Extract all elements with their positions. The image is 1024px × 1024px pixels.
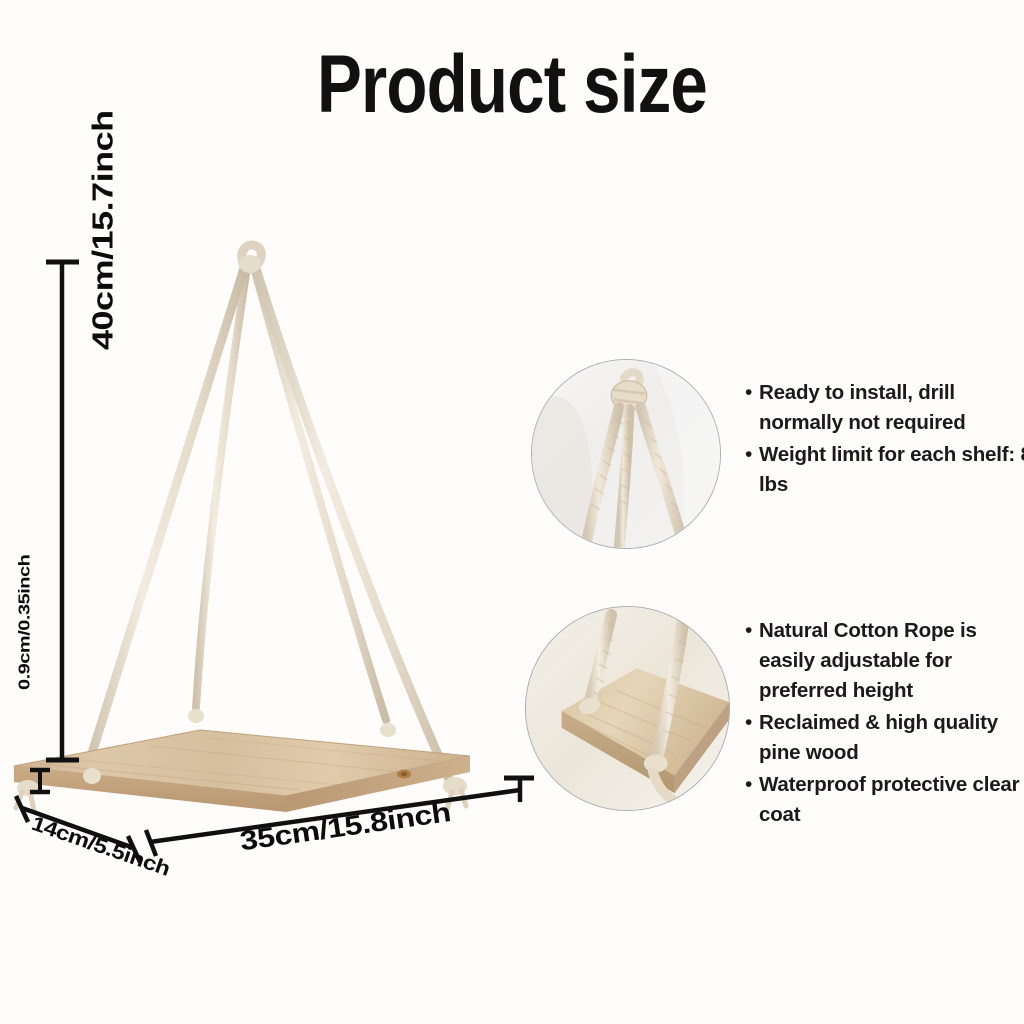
rope-knot-photo <box>532 360 720 548</box>
bullet-dot-icon: • <box>745 616 759 646</box>
rope-front-right <box>254 262 452 786</box>
rope-apex-wrap <box>239 255 261 273</box>
product-illustration <box>0 230 545 890</box>
list-item: • Weight limit for each shelf: 8 lbs <box>745 440 1024 500</box>
rope-knot-left-back <box>188 709 204 723</box>
rope-pass-left <box>83 768 101 784</box>
dimension-label-height: 40cm/15.7inch <box>86 110 120 350</box>
bullet-dot-icon: • <box>745 770 759 800</box>
list-item: • Ready to install, drill normally not r… <box>745 378 1024 438</box>
list-item: • Natural Cotton Rope is easily adjustab… <box>745 616 1024 706</box>
feature-text: Reclaimed & high quality pine wood <box>759 708 1024 768</box>
bullet-dot-icon: • <box>745 440 759 470</box>
feature-text: Weight limit for each shelf: 8 lbs <box>759 440 1024 500</box>
detail-photo-shelf-rope <box>525 606 730 811</box>
shelf-drawing <box>0 230 545 890</box>
feature-text: Ready to install, drill normally not req… <box>759 378 1024 438</box>
page-title: Product size <box>92 44 932 126</box>
feature-list-install: • Ready to install, drill normally not r… <box>745 378 1024 502</box>
dimension-label-thickness: 0.9cm/0.35inch <box>16 555 34 690</box>
list-item: • Reclaimed & high quality pine wood <box>745 708 1024 768</box>
feature-text: Natural Cotton Rope is easily adjustable… <box>759 616 1024 706</box>
shelf-board <box>14 730 470 812</box>
feature-list-material: • Natural Cotton Rope is easily adjustab… <box>745 616 1024 832</box>
feature-text: Waterproof protective clear coat <box>759 770 1024 830</box>
bullet-dot-icon: • <box>745 708 759 738</box>
rope-knot-mid-right <box>380 723 396 737</box>
list-item: • Waterproof protective clear coat <box>745 770 1024 830</box>
wood-knot-core <box>401 772 407 776</box>
shelf-rope-photo <box>526 607 729 810</box>
detail-photo-rope-knot <box>531 359 721 549</box>
bullet-dot-icon: • <box>745 378 759 408</box>
product-size-infographic: Product size <box>0 0 1024 1024</box>
rope-group <box>88 245 452 786</box>
